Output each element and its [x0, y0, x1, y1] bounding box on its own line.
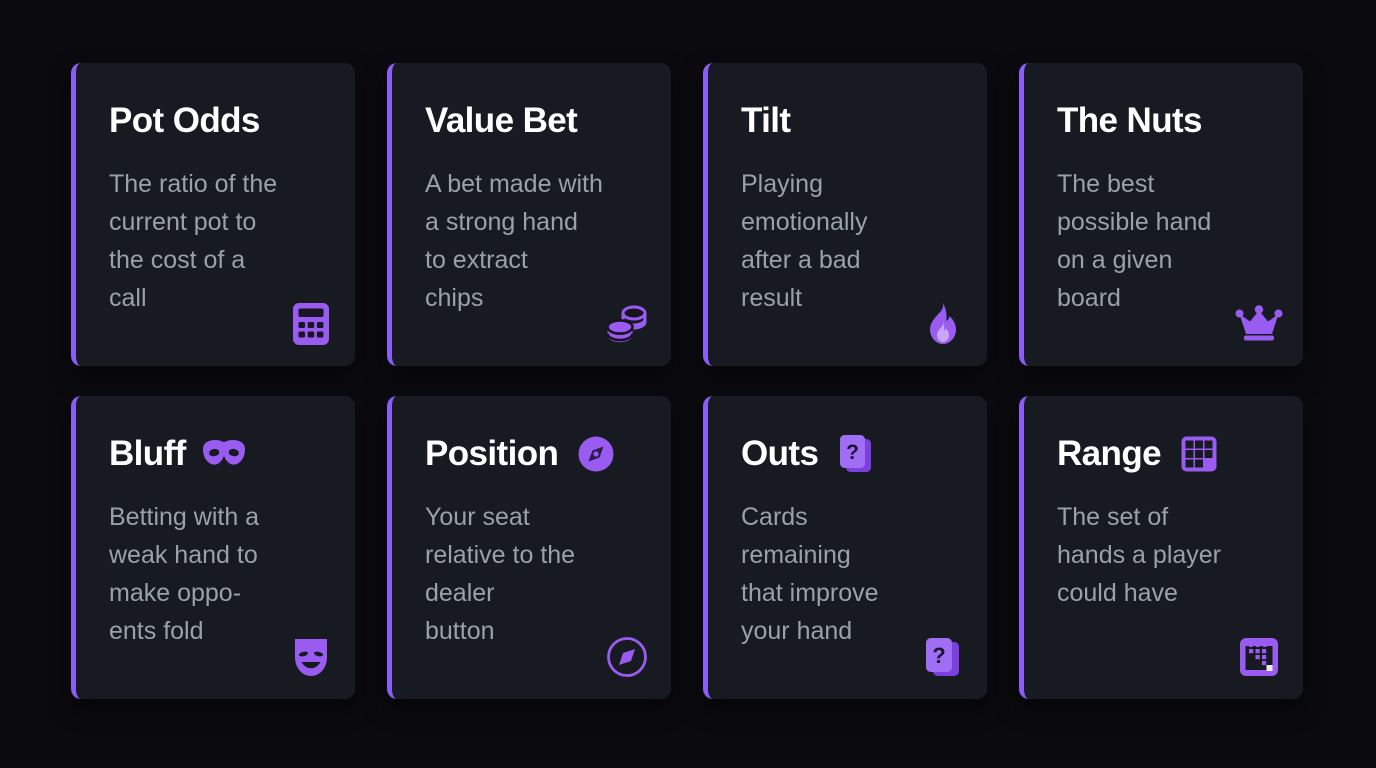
question-cards-icon: ? — [921, 635, 965, 679]
card-description: Playing emotionally after a bad result — [741, 165, 957, 317]
card-title: The Nuts — [1057, 103, 1202, 140]
glossary-board: Pot Odds The ratio of the current pot to… — [0, 0, 1376, 768]
flame-icon — [921, 302, 965, 346]
svg-text:?: ? — [932, 643, 945, 668]
glossary-card-grid: Pot Odds The ratio of the current pot to… — [71, 63, 1305, 699]
card-header: The Nuts — [1057, 99, 1273, 143]
theater-mask-icon — [289, 635, 333, 679]
range-matrix-icon — [1237, 635, 1281, 679]
card-description: Cards remaining that improve your hand — [741, 498, 957, 650]
calculator-icon — [289, 302, 333, 346]
card-header: Position — [425, 432, 641, 476]
glossary-card[interactable]: The Nuts The best possible hand on a giv… — [1019, 63, 1303, 366]
masquerade-mask-icon — [204, 434, 244, 474]
glossary-card[interactable]: Value Bet A bet made with a strong hand … — [387, 63, 671, 366]
card-title: Tilt — [741, 103, 790, 140]
question-cards-icon: ? — [836, 434, 876, 474]
card-description: The ratio of the current pot to the cost… — [109, 165, 325, 317]
card-header: Range — [1057, 432, 1273, 476]
card-header: Tilt — [741, 99, 957, 143]
card-description: A bet made with a strong hand to extract… — [425, 165, 641, 317]
grid-icon — [1179, 434, 1219, 474]
card-description: Your seat relative to the dealer button — [425, 498, 641, 650]
card-title: Pot Odds — [109, 103, 260, 140]
card-title: Position — [425, 436, 558, 473]
card-header: Bluff — [109, 432, 325, 476]
glossary-card[interactable]: Outs ? Cards remaining that improve your… — [703, 396, 987, 699]
card-title: Outs — [741, 436, 818, 473]
card-title: Bluff — [109, 436, 186, 473]
card-header: Value Bet — [425, 99, 641, 143]
glossary-card[interactable]: Bluff Betting with a weak hand to make o… — [71, 396, 355, 699]
coins-icon — [605, 302, 649, 346]
card-header: Pot Odds — [109, 99, 325, 143]
compass-outline-icon — [605, 635, 649, 679]
crown-icon — [1237, 302, 1281, 346]
compass-filled-icon — [576, 434, 616, 474]
glossary-card[interactable]: Position Your seat relative to the deale… — [387, 396, 671, 699]
card-description: The best possible hand on a given board — [1057, 165, 1273, 317]
card-header: Outs ? — [741, 432, 957, 476]
card-description: The set of hands a player could have — [1057, 498, 1273, 612]
card-title: Value Bet — [425, 103, 577, 140]
glossary-card[interactable]: Range The set of hands a playe — [1019, 396, 1303, 699]
card-description: Betting with a weak hand to make oppo- e… — [109, 498, 325, 650]
glossary-card[interactable]: Tilt Playing emotionally after a bad res… — [703, 63, 987, 366]
svg-text:?: ? — [846, 441, 859, 464]
glossary-card[interactable]: Pot Odds The ratio of the current pot to… — [71, 63, 355, 366]
card-title: Range — [1057, 436, 1161, 473]
